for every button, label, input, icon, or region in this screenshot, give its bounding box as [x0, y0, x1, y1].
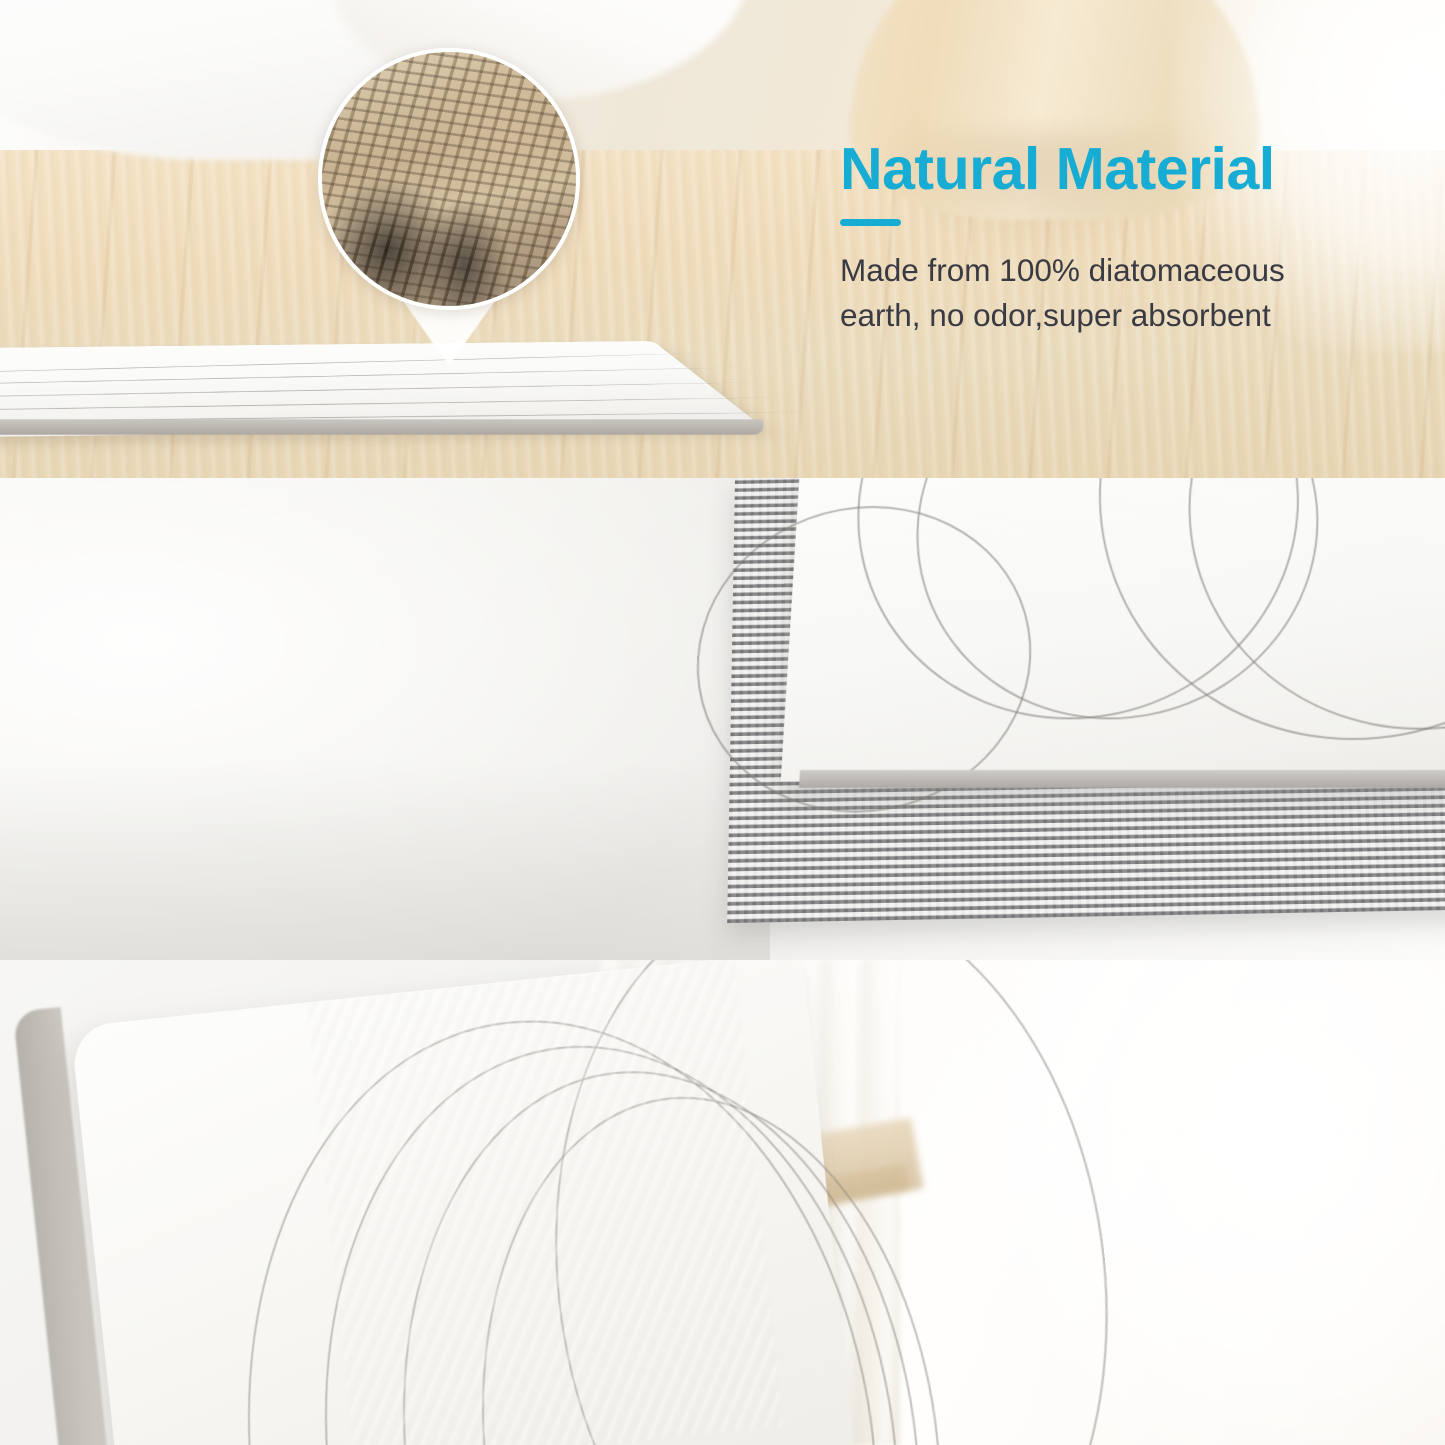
bath-mat-edge	[0, 419, 765, 434]
water-streak-texture	[307, 960, 784, 1445]
natural-material-headline: Natural Material	[840, 140, 1285, 199]
feature-panel-non-slip: Non slip Non-slip pad is included, to en…	[0, 478, 1445, 960]
natural-material-accent-rule	[840, 219, 901, 226]
natural-material-text-block: Natural Material Made from 100% diatomac…	[840, 140, 1285, 337]
bath-mat-on-pad-image	[781, 478, 1445, 781]
diatomite-quarry-callout	[318, 48, 580, 310]
quarry-rock-photo	[318, 48, 580, 310]
product-feature-infographic: Natural Material Made from 100% diatomac…	[0, 0, 1445, 1445]
bath-mat-edge-on-pad	[799, 770, 1445, 788]
natural-material-description: Made from 100% diatomaceous earth, no od…	[840, 248, 1285, 337]
non-slip-floor-shade	[0, 760, 770, 960]
natural-material-line-2: earth, no odor,super absorbent	[840, 293, 1285, 338]
feature-panel-natural-material: Natural Material Made from 100% diatomac…	[0, 0, 1445, 478]
feature-panel-easy-to-clean: Easy to Clean Simply rinse with water an…	[0, 960, 1445, 1445]
natural-material-line-1: Made from 100% diatomaceous	[840, 248, 1285, 293]
